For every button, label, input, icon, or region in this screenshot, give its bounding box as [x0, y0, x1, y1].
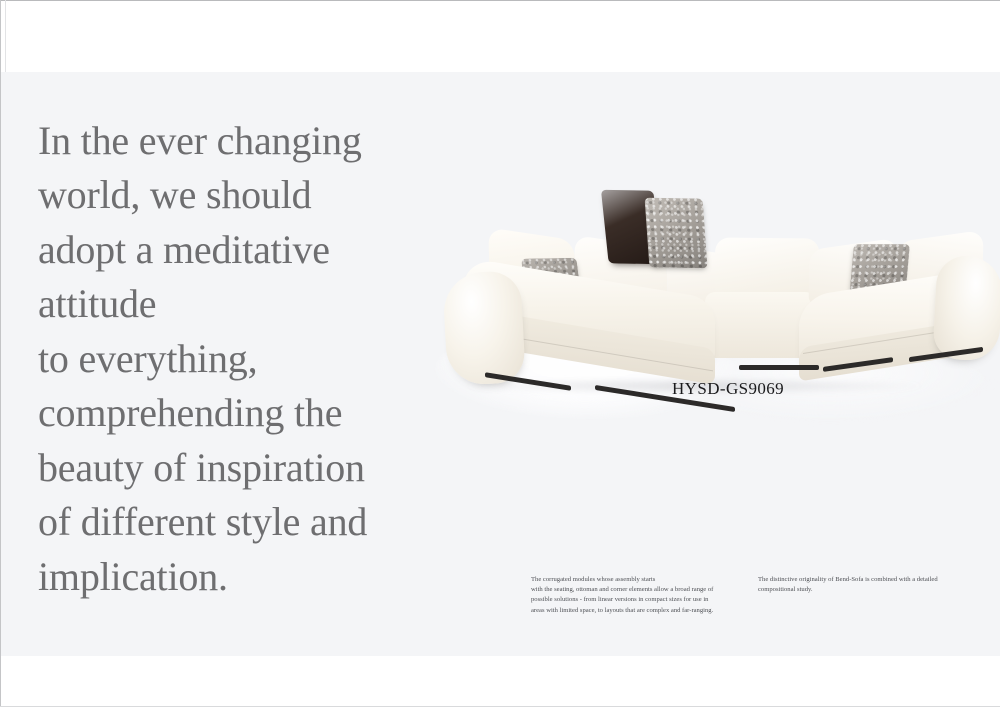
editorial-spread: In the ever changing world, we should ad…	[1, 72, 1000, 656]
sofa-plinth-3	[739, 365, 819, 370]
throw-pillow-grey-center	[644, 198, 707, 269]
product-code-label: HYSD-GS9069	[672, 379, 784, 399]
page-top-border	[0, 0, 1000, 1]
page-left-inner-border	[5, 0, 6, 72]
product-description-right: The distinctive originality of Bend-Sofa…	[758, 575, 938, 595]
page-title: In the ever changing world, we should ad…	[38, 114, 443, 605]
sofa-armrest-right	[932, 254, 1000, 361]
sofa-armrest-left	[442, 270, 526, 386]
product-description-left: The corrugated modules whose assembly st…	[531, 575, 747, 616]
catalog-page: In the ever changing world, we should ad…	[0, 0, 1000, 707]
